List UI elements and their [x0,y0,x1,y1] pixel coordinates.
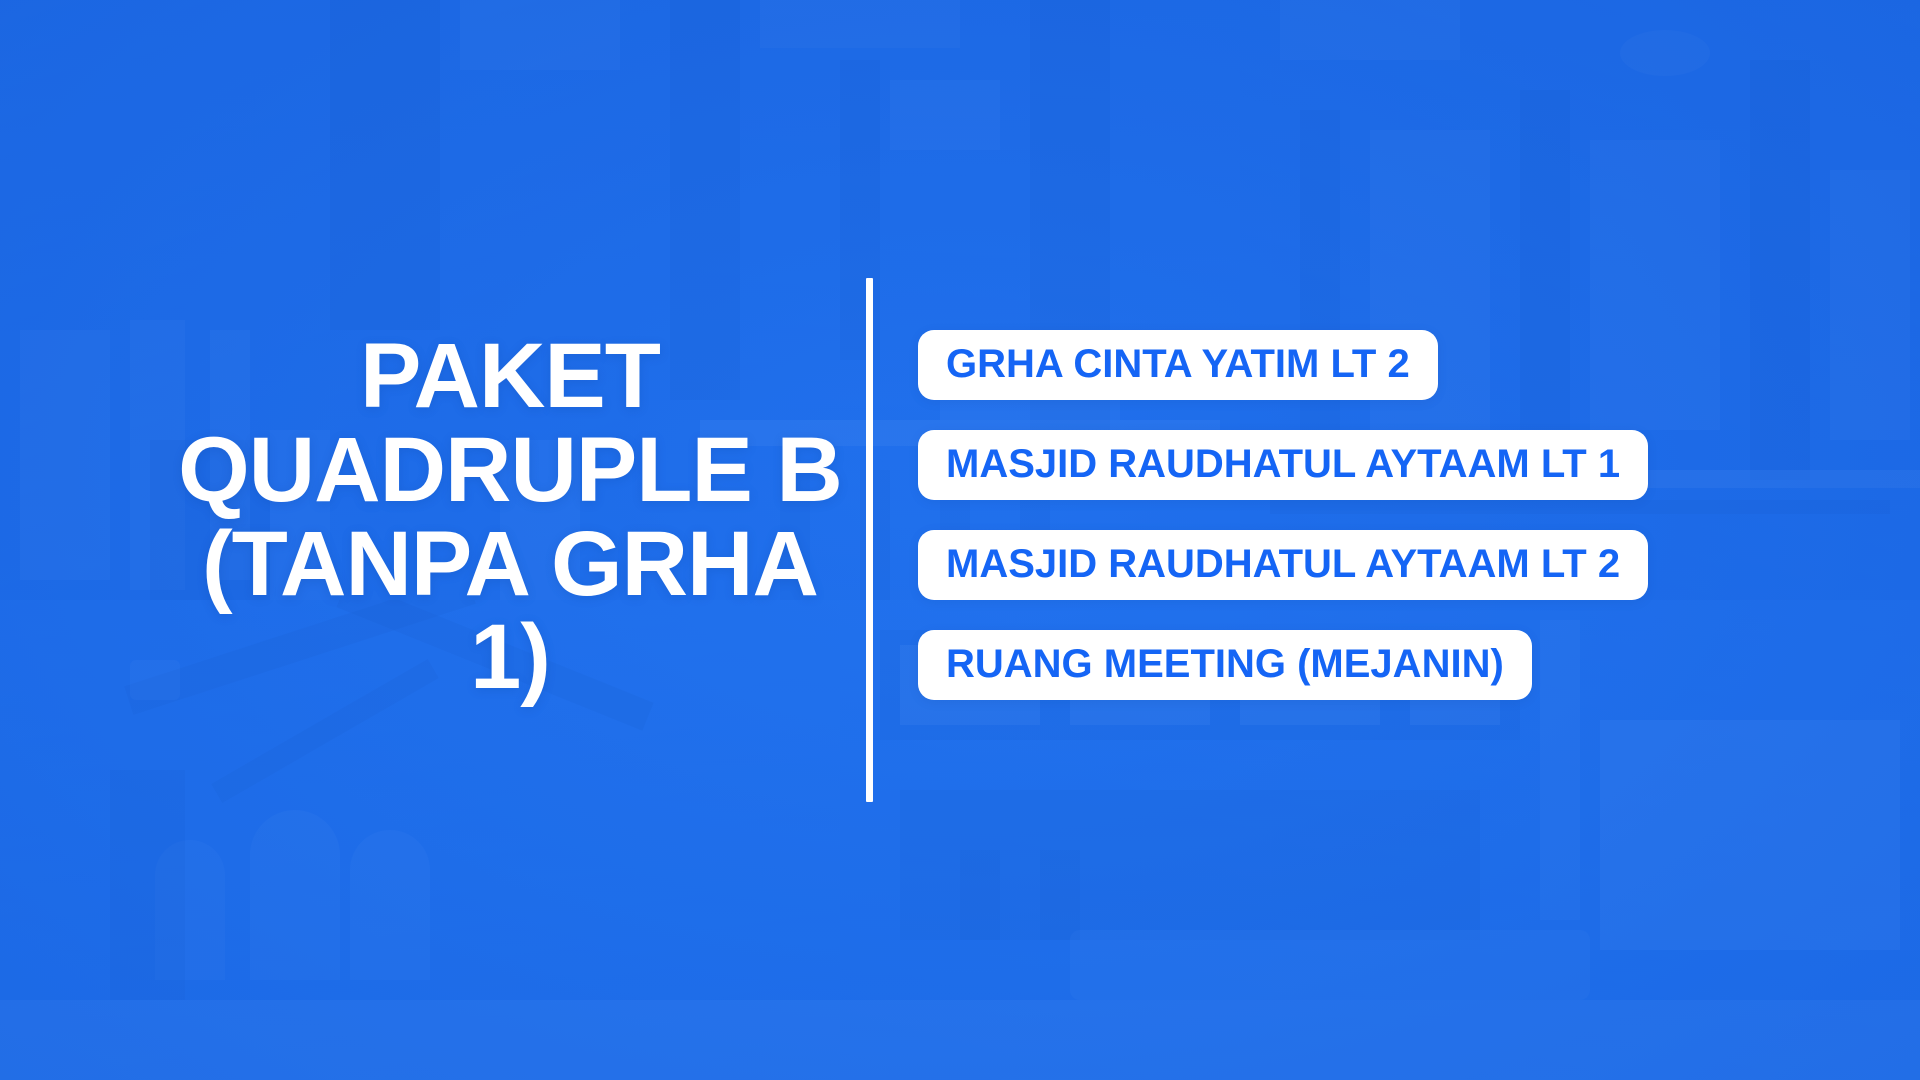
page-title: PAKET QUADRUPLE B (TANPA GRHA 1) [160,330,860,705]
promo-slide: PAKET QUADRUPLE B (TANPA GRHA 1) GRHA CI… [0,0,1920,1080]
headline-block: PAKET QUADRUPLE B (TANPA GRHA 1) [160,330,860,705]
facility-list: GRHA CINTA YATIM LT 2 MASJID RAUDHATUL A… [918,330,1648,700]
facility-label: MASJID RAUDHATUL AYTAAM LT 1 [946,444,1620,484]
list-item[interactable]: GRHA CINTA YATIM LT 2 [918,330,1438,400]
facility-label: RUANG MEETING (MEJANIN) [946,644,1504,684]
facility-label: GRHA CINTA YATIM LT 2 [946,344,1410,384]
list-item[interactable]: RUANG MEETING (MEJANIN) [918,630,1532,700]
vertical-divider [866,278,873,802]
list-item[interactable]: MASJID RAUDHATUL AYTAAM LT 1 [918,430,1648,500]
list-item[interactable]: MASJID RAUDHATUL AYTAAM LT 2 [918,530,1648,600]
slide-content: PAKET QUADRUPLE B (TANPA GRHA 1) GRHA CI… [0,0,1920,1080]
facility-label: MASJID RAUDHATUL AYTAAM LT 2 [946,544,1620,584]
